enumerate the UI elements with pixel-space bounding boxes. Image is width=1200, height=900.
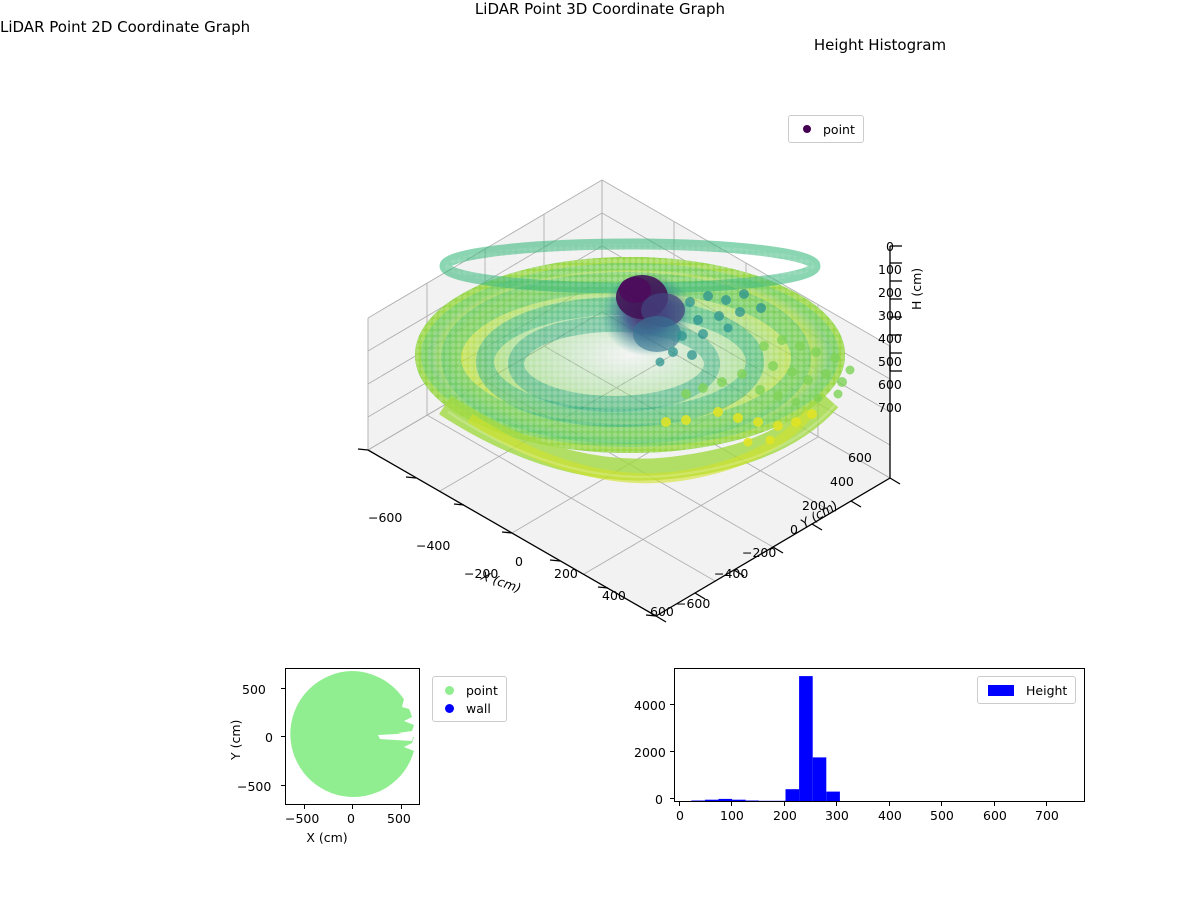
legend-3d-label-point: point xyxy=(823,122,855,137)
tick-hist-y-1: 2000 xyxy=(634,745,666,760)
tickmark-hist-y-1 xyxy=(670,751,674,752)
tick-2d-x-0: −500 xyxy=(285,811,319,826)
tick-hist-x-1: 100 xyxy=(720,808,744,823)
tickmark-hist-x-7 xyxy=(1046,802,1047,806)
plot-3d-title: LiDAR Point 3D Coordinate Graph xyxy=(0,0,1200,18)
tick-hist-x-4: 400 xyxy=(878,808,902,823)
legend-hist-item-height[interactable]: Height xyxy=(986,681,1067,699)
tick-hist-y-2: 4000 xyxy=(634,698,666,713)
legend-hist[interactable]: Height xyxy=(977,676,1076,704)
tick-3d-y-0: −600 xyxy=(676,596,710,611)
legend-2d-label-point: point xyxy=(466,683,498,698)
tick-3d-y-5: 400 xyxy=(830,474,854,489)
core-cluster xyxy=(601,272,693,356)
legend-2d-item-point[interactable]: point xyxy=(441,681,498,699)
legend-3d-item-point[interactable]: point xyxy=(797,120,855,138)
legend-2d-item-wall[interactable]: wall xyxy=(441,699,498,717)
tick-3d-z-3: 300 xyxy=(878,308,902,323)
tick-3d-z-0: 0 xyxy=(886,239,894,254)
tick-3d-x-5: 400 xyxy=(602,588,626,603)
tick-3d-z-5: 500 xyxy=(878,354,902,369)
point-cloud-2d xyxy=(290,671,415,797)
tickmark-hist-x-0 xyxy=(679,802,680,806)
tick-3d-z-6: 600 xyxy=(878,377,902,392)
tick-3d-z-2: 200 xyxy=(878,285,902,300)
tickmark-2d-x-1 xyxy=(352,805,353,809)
tickmark-hist-x-3 xyxy=(836,802,837,806)
tickmark-hist-x-6 xyxy=(994,802,995,806)
tick-3d-y-3: 0 xyxy=(790,522,798,537)
tick-hist-x-6: 600 xyxy=(983,808,1007,823)
tickmark-hist-x-4 xyxy=(889,802,890,806)
legend-2d[interactable]: point wall xyxy=(432,676,507,722)
tickmark-2d-x-2 xyxy=(401,805,402,809)
tick-hist-x-0: 0 xyxy=(676,808,684,823)
tick-2d-y-0: −500 xyxy=(237,779,271,794)
tick-3d-y-1: −400 xyxy=(714,566,748,581)
tickmark-hist-y-2 xyxy=(670,704,674,705)
tick-hist-x-3: 300 xyxy=(825,808,849,823)
tick-3d-x-4: 200 xyxy=(554,566,578,581)
plot-3d-axes[interactable] xyxy=(330,150,930,630)
tick-2d-x-1: 0 xyxy=(347,811,355,826)
tick-hist-x-2: 200 xyxy=(773,808,797,823)
tickmark-hist-x-1 xyxy=(731,802,732,806)
hist-bars xyxy=(691,676,840,801)
tickmark-hist-y-0 xyxy=(670,798,674,799)
plot-hist-title: Height Histogram xyxy=(0,36,1200,54)
tick-3d-z-7: 700 xyxy=(878,400,902,415)
height-bar-swatch-icon xyxy=(988,685,1014,696)
tick-2d-y-2: 500 xyxy=(242,682,266,697)
tick-3d-x-6: 600 xyxy=(650,604,674,619)
tick-hist-x-7: 700 xyxy=(1035,808,1059,823)
tick-3d-y-2: −200 xyxy=(742,545,776,560)
tick-2d-y-1: 0 xyxy=(265,730,273,745)
matplotlib-figure: LiDAR Point 3D Coordinate Graph point xyxy=(0,0,1200,900)
tick-3d-y-6: 600 xyxy=(848,450,872,465)
tick-3d-x-0: −600 xyxy=(368,510,402,525)
wall-marker-icon xyxy=(445,704,454,713)
point-marker-icon xyxy=(445,686,454,695)
tick-3d-z-1: 100 xyxy=(878,262,902,277)
axis-label-3d-z: H (cm) xyxy=(909,268,924,310)
axis-label-2d-y: Y (cm) xyxy=(228,720,243,760)
tickmark-2d-y-1 xyxy=(281,736,285,737)
tickmark-2d-x-0 xyxy=(304,805,305,809)
tick-3d-x-3: 0 xyxy=(515,554,523,569)
legend-3d[interactable]: point xyxy=(788,115,864,143)
tickmark-hist-x-2 xyxy=(784,802,785,806)
tickmark-2d-y-2 xyxy=(281,688,285,689)
legend-2d-label-wall: wall xyxy=(466,701,491,716)
tick-3d-x-1: −400 xyxy=(416,538,450,553)
point-marker-icon xyxy=(803,125,811,133)
plot-2d-axes[interactable] xyxy=(285,668,420,805)
plot-2d-title: LiDAR Point 2D Coordinate Graph xyxy=(0,18,1200,36)
legend-hist-label-height: Height xyxy=(1026,683,1067,698)
tick-2d-x-2: 500 xyxy=(387,811,411,826)
tickmark-2d-y-0 xyxy=(281,785,285,786)
tick-hist-x-5: 500 xyxy=(930,808,954,823)
tick-3d-z-4: 400 xyxy=(878,331,902,346)
axis-label-2d-x: X (cm) xyxy=(306,830,347,845)
tickmark-hist-x-5 xyxy=(941,802,942,806)
tick-hist-y-0: 0 xyxy=(655,792,663,807)
